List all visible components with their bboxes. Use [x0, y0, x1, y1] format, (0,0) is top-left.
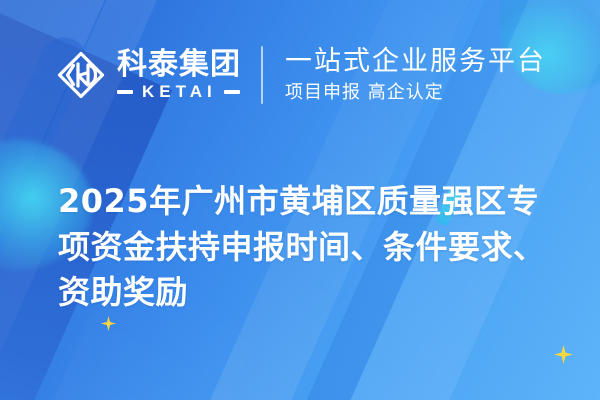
logo-company-name-en: KETAI: [133, 83, 224, 100]
brand-logo[interactable]: 科泰集团 KETAI: [55, 49, 241, 101]
tagline-block: 一站式企业服务平台 项目申报 高企认定: [285, 47, 546, 104]
banner-title: 2025年广州市黄埔区质量强区专项资金扶持申报时间、条件要求、资助奖励: [58, 179, 568, 315]
logo-wordmark: 科泰集团 KETAI: [117, 50, 241, 101]
header-vertical-divider: [261, 46, 263, 104]
sparkle-star-icon-left: [101, 316, 116, 331]
tagline-secondary: 项目申报 高企认定: [285, 82, 546, 104]
logo-dash-left-icon: [117, 90, 133, 94]
logo-english-row: KETAI: [117, 83, 241, 100]
ketai-diamond-kd-monogram-icon: [55, 49, 107, 101]
banner-header: 科泰集团 KETAI 一站式企业服务平台 项目申报 高企认定: [0, 38, 600, 112]
logo-company-name-cn: 科泰集团: [117, 50, 241, 81]
promo-banner: 科泰集团 KETAI 一站式企业服务平台 项目申报 高企认定 2025年广州市黄…: [0, 0, 600, 400]
tagline-primary: 一站式企业服务平台: [285, 47, 546, 77]
logo-dash-right-icon: [224, 90, 240, 94]
sparkle-star-icon-right: [554, 345, 573, 364]
